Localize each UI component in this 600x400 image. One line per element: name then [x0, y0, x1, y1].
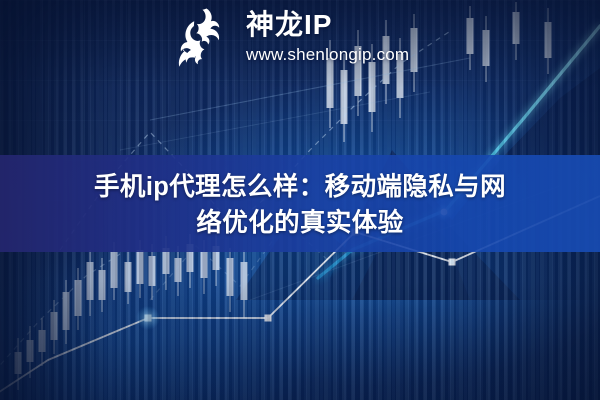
dragon-icon	[172, 6, 236, 68]
promo-banner: 神龙IP www.shenlongip.com 手机ip代理怎么样：移动端隐私与…	[0, 0, 600, 400]
brand-logo[interactable]: 神龙IP www.shenlongip.com	[172, 6, 409, 68]
headline-line-2: 络优化的真实体验	[196, 205, 403, 241]
logo-text-block: 神龙IP www.shenlongip.com	[246, 11, 409, 63]
page-title: 手机ip代理怎么样：移动端隐私与网 络优化的真实体验	[0, 150, 600, 260]
headline-line-1: 手机ip代理怎么样：移动端隐私与网	[94, 169, 506, 205]
brand-url: www.shenlongip.com	[246, 46, 409, 63]
brand-name: 神龙IP	[246, 11, 409, 39]
